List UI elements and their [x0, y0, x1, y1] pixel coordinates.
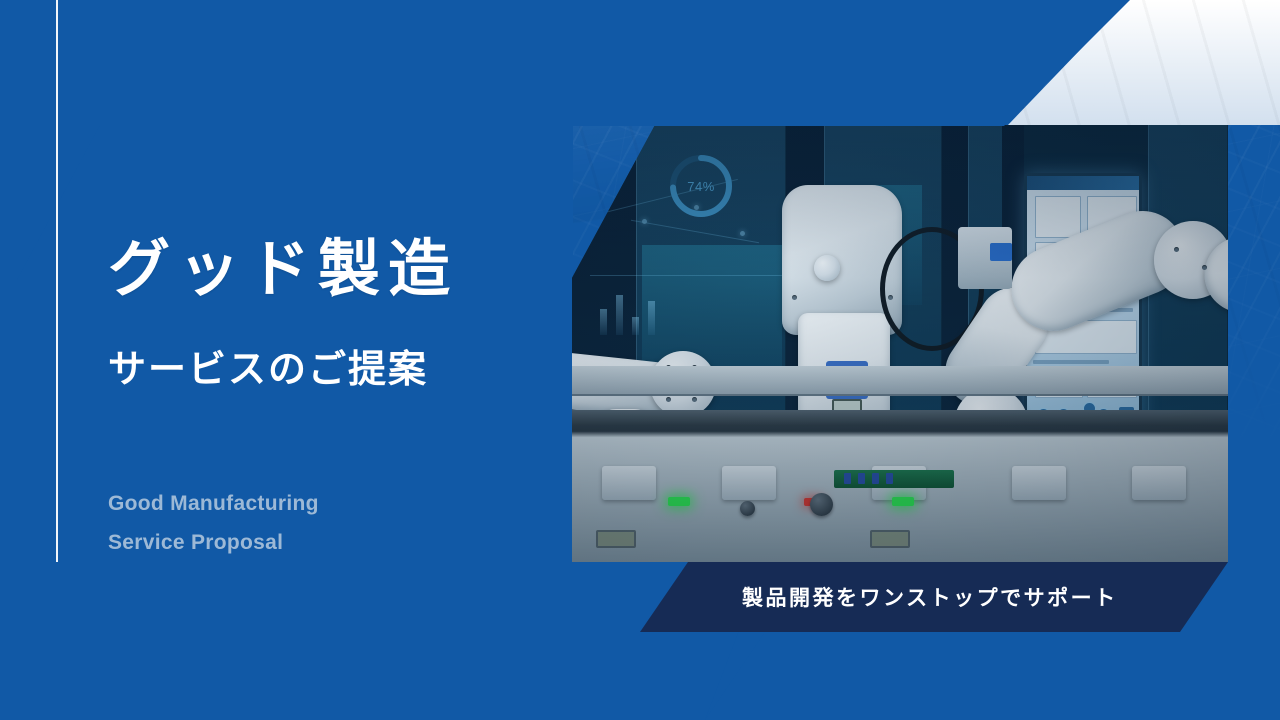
photo-bench-top: [572, 410, 1228, 426]
photo-machine-rail: [572, 366, 1228, 396]
english-subtitle-line-2: Service Proposal: [108, 523, 319, 562]
photo-circuit-board: [834, 470, 954, 488]
photo-lcd-display-2: [870, 530, 910, 548]
page-title: グッド製造: [108, 236, 578, 302]
presentation-slide: 74%: [0, 0, 1280, 720]
english-subtitle-line-1: Good Manufacturing: [108, 484, 319, 523]
photo-lcd-display-1: [596, 530, 636, 548]
photo-knob-large: [810, 493, 833, 516]
photo-progress-gauge: 74%: [664, 149, 738, 223]
gauge-value-label: 74%: [664, 149, 738, 223]
tagline-banner: 製品開発をワンストップでサポート: [640, 562, 1228, 632]
photo-indicator-green-2: [892, 497, 914, 506]
hmi-titlebar: [1027, 176, 1139, 190]
page-subtitle: サービスのご提案: [108, 338, 578, 393]
title-block: グッド製造 サービスのご提案: [108, 236, 578, 393]
photo-machine-base: [572, 410, 1228, 562]
photo-indicator-green-1: [668, 497, 690, 506]
vertical-accent-line: [56, 0, 58, 562]
blue-top-shape: [0, 0, 1130, 126]
tagline-text: 製品開発をワンストップでサポート: [742, 582, 1118, 612]
photo-knob-small: [740, 501, 755, 516]
hero-photo: 74%: [572, 125, 1228, 562]
english-subtitle-block: Good Manufacturing Service Proposal: [108, 484, 319, 562]
